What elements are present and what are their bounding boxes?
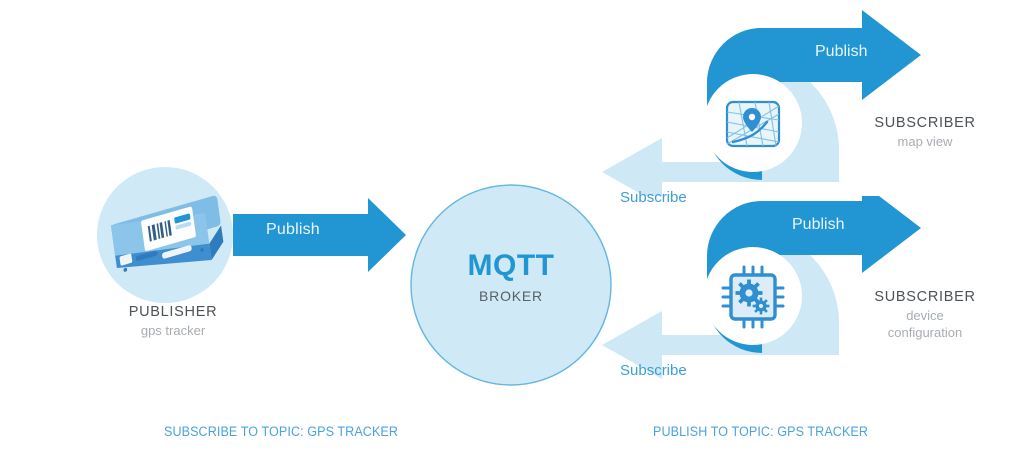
subscriber-2-subtitle-line1: device — [835, 307, 1015, 324]
publisher-caption: PUBLISHER gps tracker — [63, 303, 283, 339]
subscriber-2-caption: SUBSCRIBER device configuration — [835, 288, 1015, 341]
label-publish-to-subscriber-2: Publish — [792, 216, 844, 234]
subscriber-2-subtitle-line2: configuration — [835, 324, 1015, 341]
broker-role: BROKER — [411, 288, 611, 304]
label-publish-to-subscriber-1: Publish — [815, 43, 867, 61]
caption-subscribe-topic: SUBSCRIBE TO TOPIC: GPS TRACKER — [164, 424, 398, 439]
caption-publish-topic: PUBLISH TO TOPIC: GPS TRACKER — [653, 424, 868, 439]
subscriber-1-subtitle: map view — [835, 133, 1015, 150]
label-publish-to-broker: Publish — [266, 221, 320, 239]
publisher-title: PUBLISHER — [63, 303, 283, 322]
subscriber-1-caption: SUBSCRIBER map view — [835, 114, 1015, 150]
map-pin-icon — [727, 102, 779, 146]
publisher-subtitle: gps tracker — [63, 322, 283, 339]
subscriber-1-title: SUBSCRIBER — [835, 114, 1015, 133]
microchip-gears-icon — [723, 267, 783, 327]
broker-name: MQTT — [411, 249, 611, 283]
mqtt-architecture-diagram: Publish Publish Subscribe Publish Subscr… — [0, 0, 1024, 452]
label-subscribe-from-subscriber-2: Subscribe — [620, 362, 687, 379]
subscriber-2-title: SUBSCRIBER — [835, 288, 1015, 307]
diagram-canvas — [0, 0, 1024, 452]
broker-circle — [411, 185, 611, 385]
label-subscribe-from-subscriber-1: Subscribe — [620, 189, 687, 206]
